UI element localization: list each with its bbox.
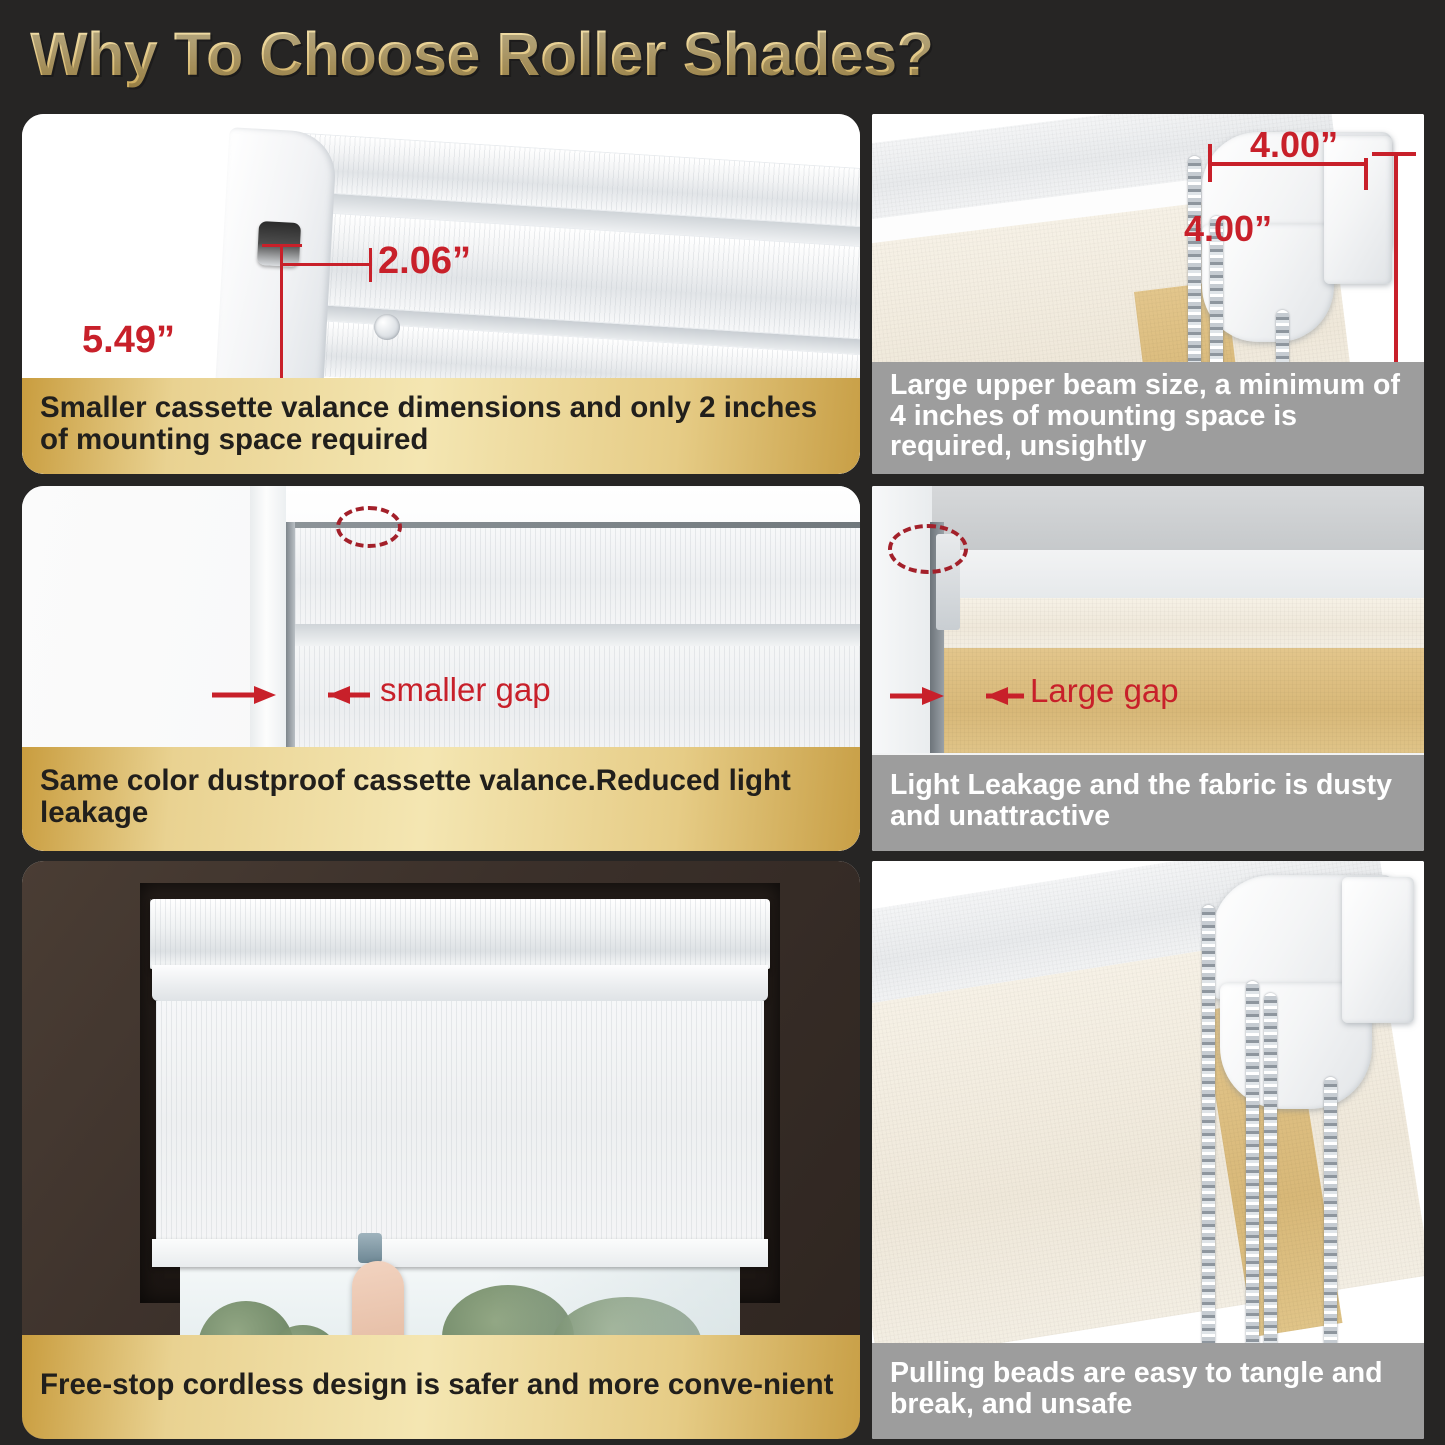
bead-chain-long-inner	[1264, 993, 1277, 1379]
caption-top-left: Smaller cassette valance dimensions and …	[22, 378, 860, 474]
caption-middle-right: Light Leakage and the fabric is dusty an…	[872, 755, 1424, 851]
bead-chain-long-rear	[1324, 1077, 1337, 1379]
valance-end-cap	[214, 127, 337, 405]
panel-middle-left: smaller gap Same color dustproof cassett…	[22, 486, 860, 851]
side-gap	[286, 522, 295, 754]
highlight-ellipse-large-gap	[888, 524, 968, 574]
page-title: Why To Choose Roller Shades?	[30, 19, 933, 89]
bottom-rail	[152, 1239, 768, 1267]
roller-bracket-plate-br	[1342, 877, 1414, 1023]
width-dim-line	[280, 263, 372, 266]
height-dimension-label: 5.49”	[82, 319, 175, 362]
beam-width-tick-left	[1208, 144, 1212, 182]
caption-top-right: Large upper beam size, a minimum of 4 in…	[872, 362, 1424, 474]
roller-shade-room	[156, 1001, 764, 1243]
shade-upper-fabric	[944, 598, 1424, 648]
width-dimension-label: 2.06”	[378, 240, 471, 283]
shade-fabric	[294, 646, 860, 754]
caption-bottom-left: Free-stop cordless design is safer and m…	[22, 1335, 860, 1439]
window-jamb	[250, 486, 286, 754]
highlight-ellipse-smaller-gap	[336, 506, 402, 548]
panel-top-right: 4.00” 4.00” Large upper beam size, a min…	[872, 114, 1424, 474]
smaller-gap-label: smaller gap	[380, 671, 551, 709]
valance-lower-lip	[290, 624, 860, 646]
roller-tube-top	[944, 550, 1424, 598]
comparison-grid: 2.06” 5.49” Smaller cassette valance dim…	[0, 108, 1445, 1445]
cassette-valance-room	[150, 899, 770, 969]
panel-top-left: 2.06” 5.49” Smaller cassette valance dim…	[22, 114, 860, 474]
beam-height-tick-top	[1372, 152, 1416, 156]
bead-chain-long-front	[1202, 905, 1215, 1379]
beam-width-label: 4.00”	[1250, 124, 1338, 166]
large-gap-label: Large gap	[1030, 672, 1179, 710]
large-gap-arrow-left	[888, 683, 958, 709]
bead-chain-long-mid	[1246, 981, 1259, 1379]
pull-tab	[358, 1233, 382, 1263]
beam-height-label: 4.00”	[1184, 208, 1272, 250]
valance-body	[275, 132, 860, 407]
width-dim-tick-right	[369, 248, 372, 282]
valance-screw-upper	[374, 314, 400, 340]
page-header: Why To Choose Roller Shades?	[0, 0, 1445, 108]
beam-width-tick-right	[1364, 158, 1368, 190]
caption-bottom-right: Pulling beads are easy to tangle and bre…	[872, 1343, 1424, 1439]
panel-bottom-left: Free-stop cordless design is safer and m…	[22, 861, 860, 1439]
large-gap-arrow-right	[950, 683, 1026, 709]
caption-middle-left: Same color dustproof cassette valance.Re…	[22, 747, 860, 851]
height-dim-tick-top	[262, 244, 302, 247]
panel-middle-right: Large gap Light Leakage and the fabric i…	[872, 486, 1424, 851]
panel-bottom-right: Pulling beads are easy to tangle and bre…	[872, 861, 1424, 1439]
valance-lower-room	[152, 965, 768, 1001]
gap-arrow-right	[284, 682, 372, 708]
